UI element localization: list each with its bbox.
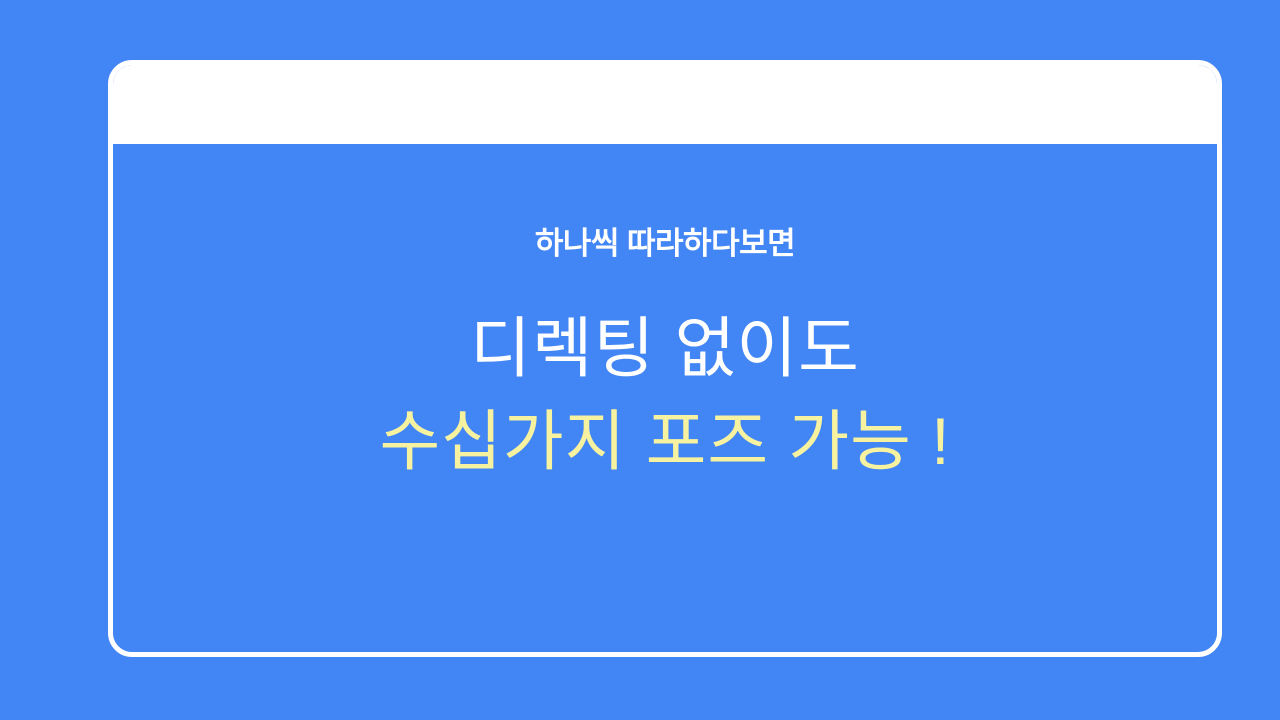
headline-accent: 수십가지 포즈 가능 ! [379,406,950,477]
card-header-band [113,65,1217,144]
headline-primary: 디렉팅 없이도 [470,313,860,384]
card-body: 하나씩 따라하다보면 디렉팅 없이도 수십가지 포즈 가능 ! [113,144,1217,652]
content-card: 하나씩 따라하다보면 디렉팅 없이도 수십가지 포즈 가능 ! [108,60,1222,657]
eyebrow-text: 하나씩 따라하다보면 [535,228,795,259]
slide-canvas: 하나씩 따라하다보면 디렉팅 없이도 수십가지 포즈 가능 ! [0,0,1280,720]
